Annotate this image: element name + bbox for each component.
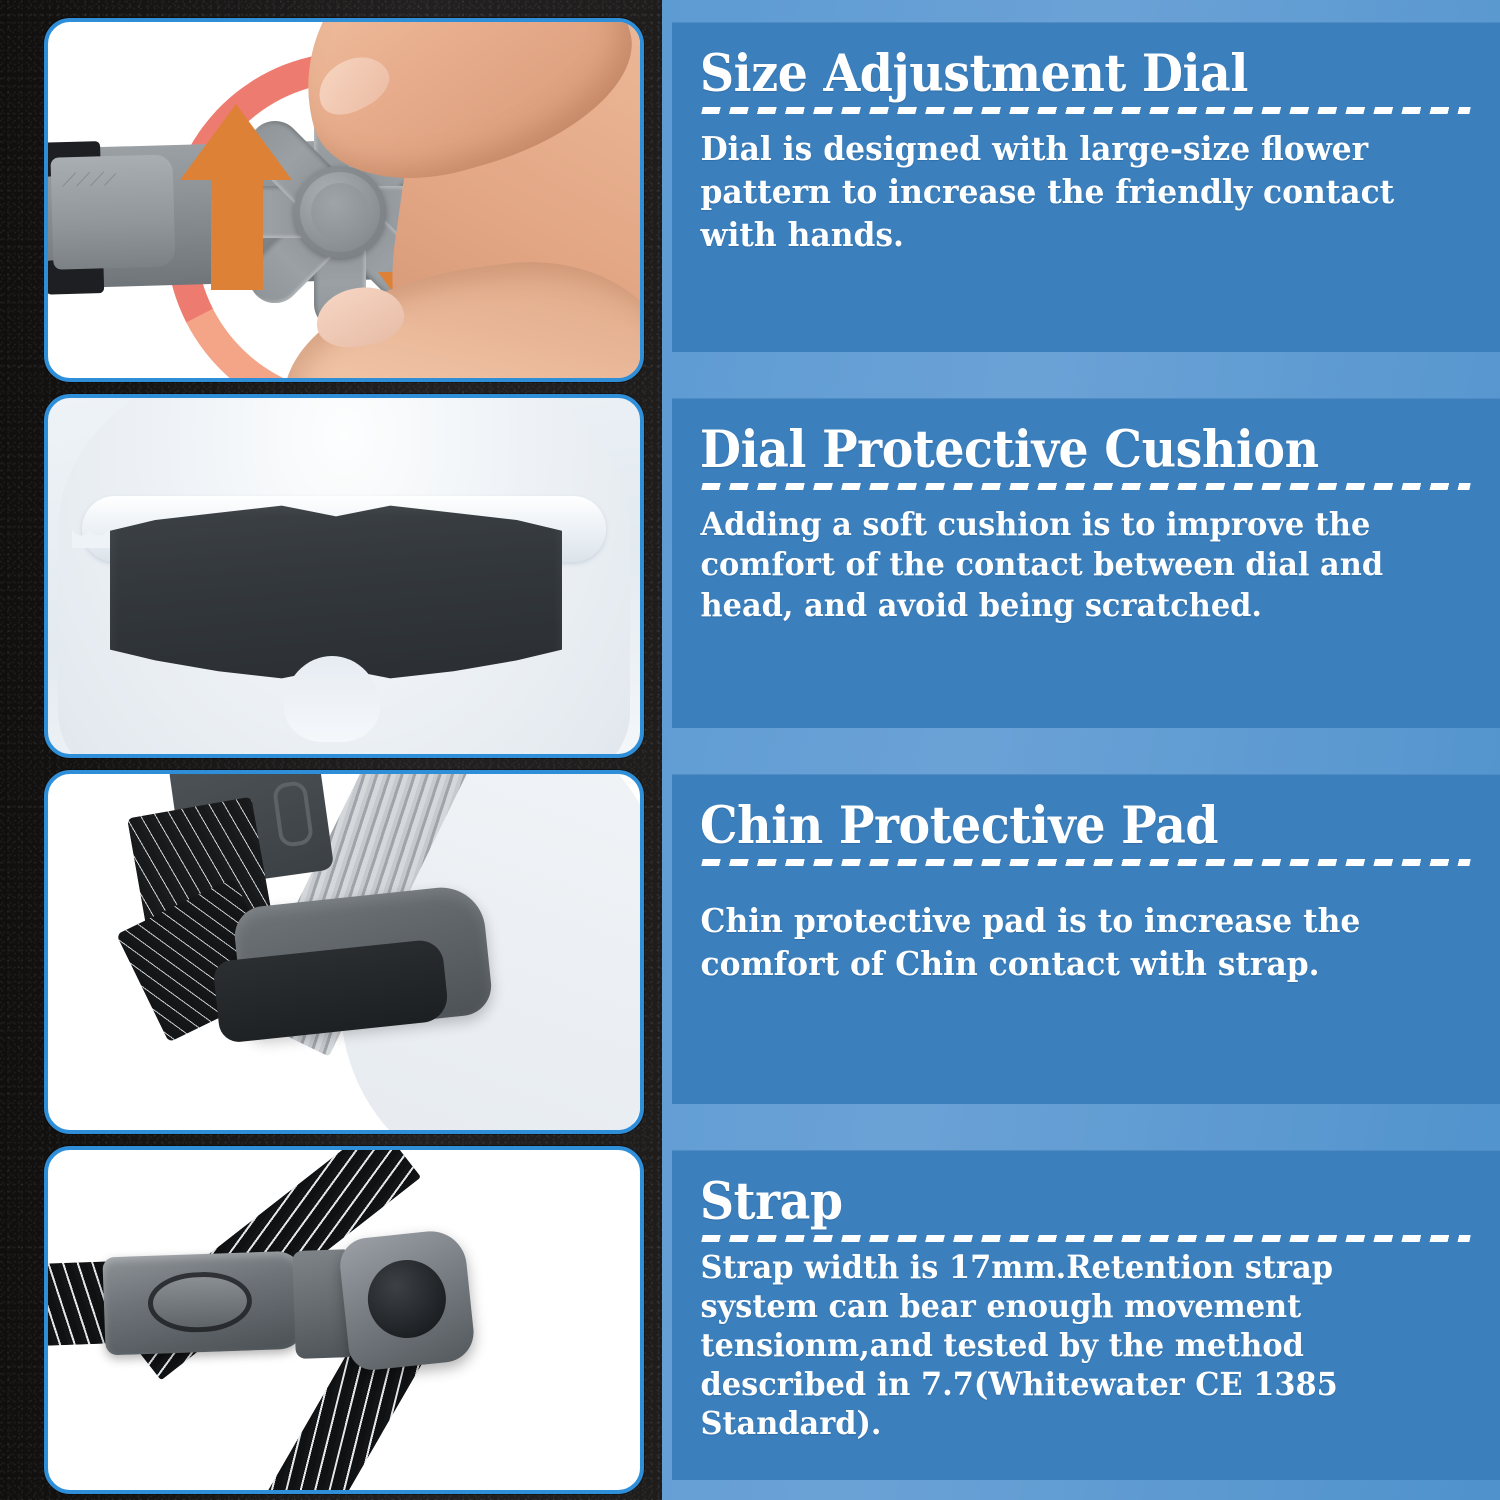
infographic-page: Size Adjustment Dial Dial is designed wi… <box>0 0 1500 1500</box>
feature-body-text: Dial is designed with large-size flower … <box>672 114 1459 257</box>
heading-dashed-divider <box>701 483 1470 490</box>
feature-text-panel-strap: Strap Strap width is 17mm.Retention stra… <box>672 1150 1500 1480</box>
strap-photo <box>48 1150 640 1490</box>
chin-pad-photo <box>48 774 640 1130</box>
cushion-photo <box>48 398 640 754</box>
dial-photo <box>48 22 640 378</box>
heading-dashed-divider <box>701 859 1470 866</box>
feature-text-panel-size-adjustment-dial: Size Adjustment Dial Dial is designed wi… <box>672 22 1500 352</box>
feature-heading: Dial Protective Cushion <box>672 398 1442 477</box>
text-column: Size Adjustment Dial Dial is designed wi… <box>662 0 1500 1500</box>
feature-image-card-dial-protective-cushion <box>44 394 644 758</box>
feature-body-text: Adding a soft cushion is to improve the … <box>672 490 1459 625</box>
feature-heading: Strap <box>672 1150 1442 1229</box>
strap-zigzag-detail <box>62 171 116 187</box>
side-release-buckle <box>102 1251 305 1356</box>
up-arrow-head-icon <box>180 104 292 180</box>
feature-body-text: Chin protective pad is to increase the c… <box>672 866 1459 986</box>
feature-image-card-strap <box>44 1146 644 1494</box>
heading-dashed-divider <box>701 1235 1470 1242</box>
photo-column <box>0 0 662 1500</box>
feature-heading: Size Adjustment Dial <box>672 22 1442 101</box>
feature-text-panel-dial-protective-cushion: Dial Protective Cushion Adding a soft cu… <box>672 398 1500 728</box>
heading-dashed-divider <box>701 107 1470 114</box>
strap-y-splitter <box>337 1228 476 1372</box>
cushion-pad <box>110 502 562 682</box>
feature-heading: Chin Protective Pad <box>672 774 1442 853</box>
feature-image-card-chin-protective-pad <box>44 770 644 1134</box>
feature-text-panel-chin-protective-pad: Chin Protective Pad Chin protective pad … <box>672 774 1500 1104</box>
feature-body-text: Strap width is 17mm.Retention strap syst… <box>672 1242 1459 1443</box>
up-arrow-stem <box>211 172 263 290</box>
dial-hub-center <box>311 183 369 241</box>
feature-image-card-size-adjustment-dial <box>44 18 644 382</box>
